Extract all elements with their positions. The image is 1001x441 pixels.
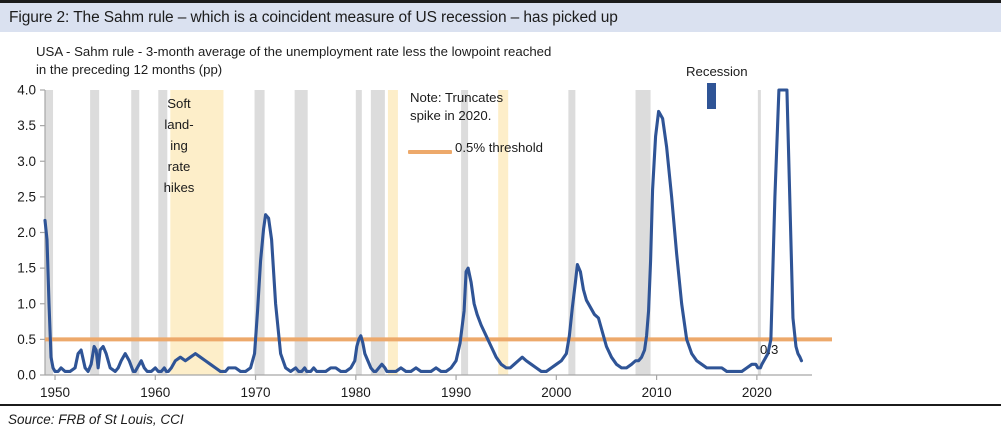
note-line-1: Note: Truncates bbox=[410, 89, 610, 107]
source-note: Source: FRB of St Louis, CCI bbox=[8, 412, 184, 427]
recession-band-8 bbox=[371, 90, 385, 375]
chart-subtitle-line-2: in the preceding 12 months (pp) bbox=[36, 61, 736, 79]
recession-band-2 bbox=[90, 90, 99, 375]
threshold-legend-label: 0.5% threshold bbox=[455, 139, 543, 156]
y-tick-label-7: 3.5 bbox=[17, 118, 36, 133]
soft-landing-line-2: land- bbox=[148, 114, 210, 135]
recession-band-3 bbox=[131, 90, 139, 375]
y-tick-label-8: 4.0 bbox=[17, 83, 36, 98]
recession-legend-label: Recession bbox=[686, 63, 748, 80]
chart-subtitle-line-1: USA - Sahm rule - 3-month average of the… bbox=[36, 43, 736, 61]
truncation-note-annotation: Note: Truncates spike in 2020. bbox=[410, 89, 610, 125]
x-tick-label-0: 1950 bbox=[40, 385, 70, 398]
y-tick-label-4: 2.0 bbox=[17, 225, 36, 240]
soft-landing-line-5: hikes bbox=[148, 177, 210, 198]
soft-landing-line-3: ing bbox=[148, 135, 210, 156]
y-tick-label-2: 1.0 bbox=[17, 296, 36, 311]
soft-landing-band-3 bbox=[498, 90, 508, 375]
soft-landing-band-2 bbox=[388, 90, 398, 375]
x-tick-label-3: 1980 bbox=[341, 385, 371, 398]
end-value-label: 0.3 bbox=[760, 341, 778, 358]
x-tick-label-1: 1960 bbox=[140, 385, 170, 398]
recession-band-6 bbox=[295, 90, 308, 375]
page-title: Figure 2: The Sahm rule – which is a coi… bbox=[0, 9, 618, 27]
bottom-divider bbox=[0, 404, 1001, 406]
recession-band-7 bbox=[356, 90, 362, 375]
x-tick-label-5: 2000 bbox=[541, 385, 571, 398]
soft-landing-line-1: Soft bbox=[148, 93, 210, 114]
x-tick-label-7: 2020 bbox=[742, 385, 772, 398]
y-tick-label-1: 0.5 bbox=[17, 332, 36, 347]
x-tick-label-2: 1970 bbox=[241, 385, 271, 398]
recession-legend-swatch bbox=[707, 83, 716, 109]
chart-subtitle: USA - Sahm rule - 3-month average of the… bbox=[36, 43, 736, 79]
y-tick-label-0: 0.0 bbox=[17, 368, 36, 383]
recession-band-12 bbox=[758, 90, 761, 375]
threshold-legend-swatch bbox=[408, 150, 452, 154]
x-tick-label-4: 1990 bbox=[441, 385, 471, 398]
soft-landing-annotation: Softland-ingratehikes bbox=[148, 93, 210, 198]
x-tick-label-6: 2010 bbox=[642, 385, 672, 398]
note-line-2: spike in 2020. bbox=[410, 107, 610, 125]
figure-title-bar: Figure 2: The Sahm rule – which is a coi… bbox=[0, 3, 1001, 32]
y-tick-label-3: 1.5 bbox=[17, 261, 36, 276]
soft-landing-line-4: rate bbox=[148, 156, 210, 177]
y-tick-label-6: 3.0 bbox=[17, 154, 36, 169]
y-tick-label-5: 2.5 bbox=[17, 189, 36, 204]
